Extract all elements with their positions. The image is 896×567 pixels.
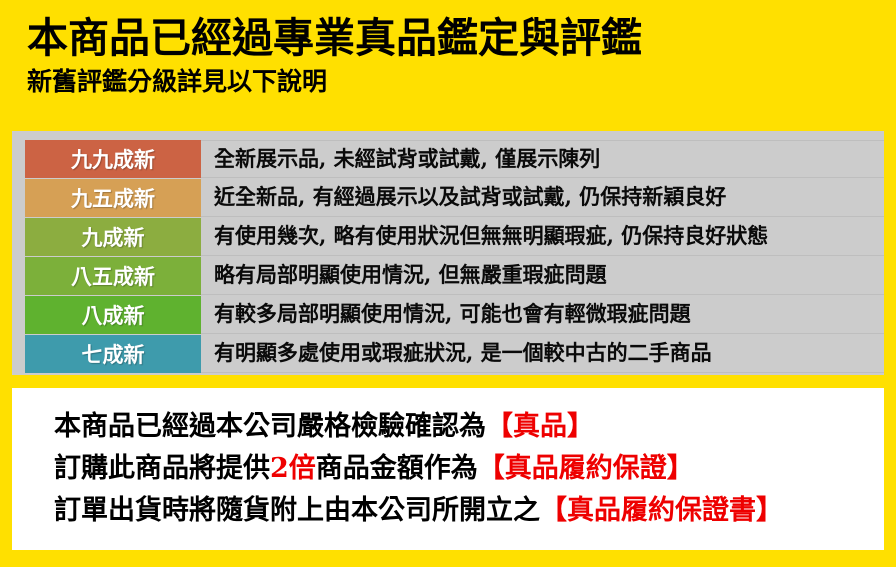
page-subtitle: 新舊評鑑分級詳見以下說明 — [27, 65, 896, 99]
guarantee-notice-panel: 本商品已經過本公司嚴格檢驗確認為【真品】 訂購此商品將提供2倍商品金額作為【真品… — [12, 388, 884, 550]
notice-highlight-multiplier: 2倍 — [270, 453, 316, 484]
grade-row: 九五成新 近全新品, 有經過展示以及試背或試戴, 仍保持新穎良好 — [12, 179, 884, 217]
grade-row: 九九成新 全新展示品, 未經試背或試戴, 僅展示陳列 — [12, 140, 884, 178]
notice-text: 本商品已經過本公司嚴格檢驗確認為 — [54, 411, 486, 442]
notice-line-double-refund: 訂購此商品將提供2倍商品金額作為【真品履約保證】 — [54, 448, 884, 490]
notice-text: 訂購此商品將提供 — [54, 453, 270, 484]
page-title: 本商品已經過專業真品鑑定與評鑑 — [27, 14, 896, 62]
grade-row: 八五成新 略有局部明顯使用情況, 但無嚴重瑕疵問題 — [12, 257, 884, 295]
grade-row: 九成新 有使用幾次, 略有使用狀況但無無明顯瑕疵, 仍保持良好狀態 — [12, 218, 884, 256]
grade-badge-90: 九成新 — [25, 218, 201, 256]
grade-row: 八成新 有較多局部明顯使用情況, 可能也會有輕微瑕疵問題 — [12, 296, 884, 334]
notice-line-certificate: 訂單出貨時將隨貨附上由本公司所開立之【真品履約保證書】 — [54, 490, 884, 532]
notice-highlight: 【真品】 — [486, 411, 594, 442]
notice-line-authenticity: 本商品已經過本公司嚴格檢驗確認為【真品】 — [54, 406, 884, 448]
grade-description-99: 全新展示品, 未經試背或試戴, 僅展示陳列 — [201, 140, 884, 178]
header: 本商品已經過專業真品鑑定與評鑑 新舊評鑑分級詳見以下說明 — [0, 0, 896, 99]
grade-row: 七成新 有明顯多處使用或瑕疵狀況, 是一個較中古的二手商品 — [12, 335, 884, 373]
grade-description-90: 有使用幾次, 略有使用狀況但無無明顯瑕疵, 仍保持良好狀態 — [201, 218, 884, 256]
grade-table: 九九成新 全新展示品, 未經試背或試戴, 僅展示陳列 九五成新 近全新品, 有經… — [12, 131, 884, 375]
grade-badge-99: 九九成新 — [25, 140, 201, 178]
notice-text: 訂單出貨時將隨貨附上由本公司所開立之 — [54, 495, 540, 526]
authentication-notice-page: 本商品已經過專業真品鑑定與評鑑 新舊評鑑分級詳見以下說明 九九成新 全新展示品,… — [0, 0, 896, 567]
notice-highlight-guarantee: 【真品履約保證】 — [478, 453, 694, 484]
grade-badge-95: 九五成新 — [25, 179, 201, 217]
grade-badge-70: 七成新 — [25, 335, 201, 373]
grade-description-85: 略有局部明顯使用情況, 但無嚴重瑕疵問題 — [201, 257, 884, 295]
grade-badge-85: 八五成新 — [25, 257, 201, 295]
grade-description-70: 有明顯多處使用或瑕疵狀況, 是一個較中古的二手商品 — [201, 335, 884, 373]
notice-text: 商品金額作為 — [316, 453, 478, 484]
notice-highlight: 【真品履約保證書】 — [540, 495, 783, 526]
grade-badge-80: 八成新 — [25, 296, 201, 334]
grade-description-95: 近全新品, 有經過展示以及試背或試戴, 仍保持新穎良好 — [201, 179, 884, 217]
grade-description-80: 有較多局部明顯使用情況, 可能也會有輕微瑕疵問題 — [201, 296, 884, 334]
